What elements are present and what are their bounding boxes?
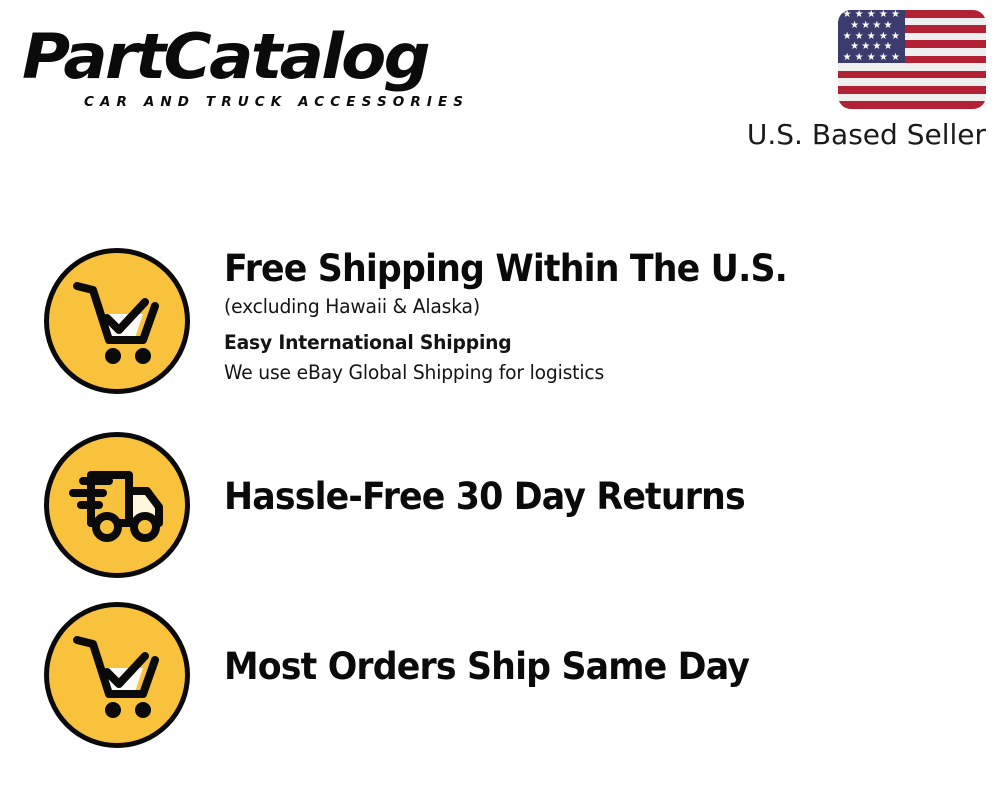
feature-heading: Most Orders Ship Same Day — [224, 644, 953, 690]
flag-star: ★ — [891, 10, 900, 20]
flag-star: ★ — [867, 10, 876, 20]
flag-star: ★ — [872, 21, 881, 31]
flag-star: ★ — [891, 32, 900, 42]
flag-star-row: ★ ★ ★ ★ ★ — [838, 53, 905, 64]
feature-list: Free Shipping Within The U.S. (excluding… — [0, 240, 1000, 762]
feature-heading: Free Shipping Within The U.S. — [224, 246, 953, 292]
flag-star: ★ — [867, 32, 876, 42]
flag-star: ★ — [867, 53, 876, 63]
seller-promo-banner: PartCatalog CAR AND TRUCK ACCESSORIES ★ … — [0, 0, 1000, 800]
flag-star: ★ — [861, 21, 870, 31]
us-flag-icon: ★ ★ ★ ★ ★ ★ ★ ★ ★ ★ ★ ★ ★ ★ — [838, 10, 986, 109]
flag-canton: ★ ★ ★ ★ ★ ★ ★ ★ ★ ★ ★ ★ ★ ★ — [838, 10, 905, 63]
us-based-seller-label: U.S. Based Seller — [714, 118, 986, 152]
brand-logo: PartCatalog CAR AND TRUCK ACCESSORIES — [22, 22, 492, 118]
flag-star: ★ — [855, 53, 864, 63]
fast-delivery-truck-icon — [44, 432, 190, 578]
cart-check-icon — [44, 602, 190, 748]
flag-star: ★ — [879, 32, 888, 42]
cart-check-icon — [44, 248, 190, 394]
flag-star: ★ — [861, 42, 870, 52]
feature-subtext-logistics: We use eBay Global Shipping for logistic… — [224, 358, 969, 388]
flag-star: ★ — [879, 53, 888, 63]
feature-text-block: Most Orders Ship Same Day — [190, 592, 1000, 690]
flag-star: ★ — [879, 10, 888, 20]
feature-text-block: Hassle-Free 30 Day Returns — [190, 422, 1000, 520]
flag-star: ★ — [850, 21, 859, 31]
flag-star: ★ — [843, 53, 852, 63]
flag-star: ★ — [850, 42, 859, 52]
flag-star: ★ — [855, 32, 864, 42]
feature-row: Free Shipping Within The U.S. (excluding… — [0, 240, 1000, 422]
feature-subtext-exclusions: (excluding Hawaii & Alaska) — [224, 292, 969, 322]
brand-wordmark: PartCatalog — [22, 22, 520, 92]
flag-star: ★ — [843, 10, 852, 20]
feature-row: Hassle-Free 30 Day Returns — [0, 422, 1000, 592]
flag-star-row: ★ ★ ★ ★ ★ — [838, 10, 905, 21]
flag-star: ★ — [884, 42, 893, 52]
feature-row: Most Orders Ship Same Day — [0, 592, 1000, 762]
flag-star-row: ★ ★ ★ ★ ★ — [838, 31, 905, 42]
feature-heading: Hassle-Free 30 Day Returns — [224, 474, 953, 520]
flag-star-row: ★ ★ ★ ★ — [838, 21, 905, 32]
flag-star: ★ — [891, 53, 900, 63]
us-based-seller-badge: ★ ★ ★ ★ ★ ★ ★ ★ ★ ★ ★ ★ ★ ★ — [714, 10, 986, 152]
feature-subtext-international: Easy International Shipping — [224, 328, 969, 358]
flag-star: ★ — [855, 10, 864, 20]
flag-star: ★ — [884, 21, 893, 31]
brand-tagline: CAR AND TRUCK ACCESSORIES — [84, 94, 492, 110]
flag-star: ★ — [843, 32, 852, 42]
flag-star: ★ — [872, 42, 881, 52]
feature-text-block: Free Shipping Within The U.S. (excluding… — [190, 240, 1000, 388]
